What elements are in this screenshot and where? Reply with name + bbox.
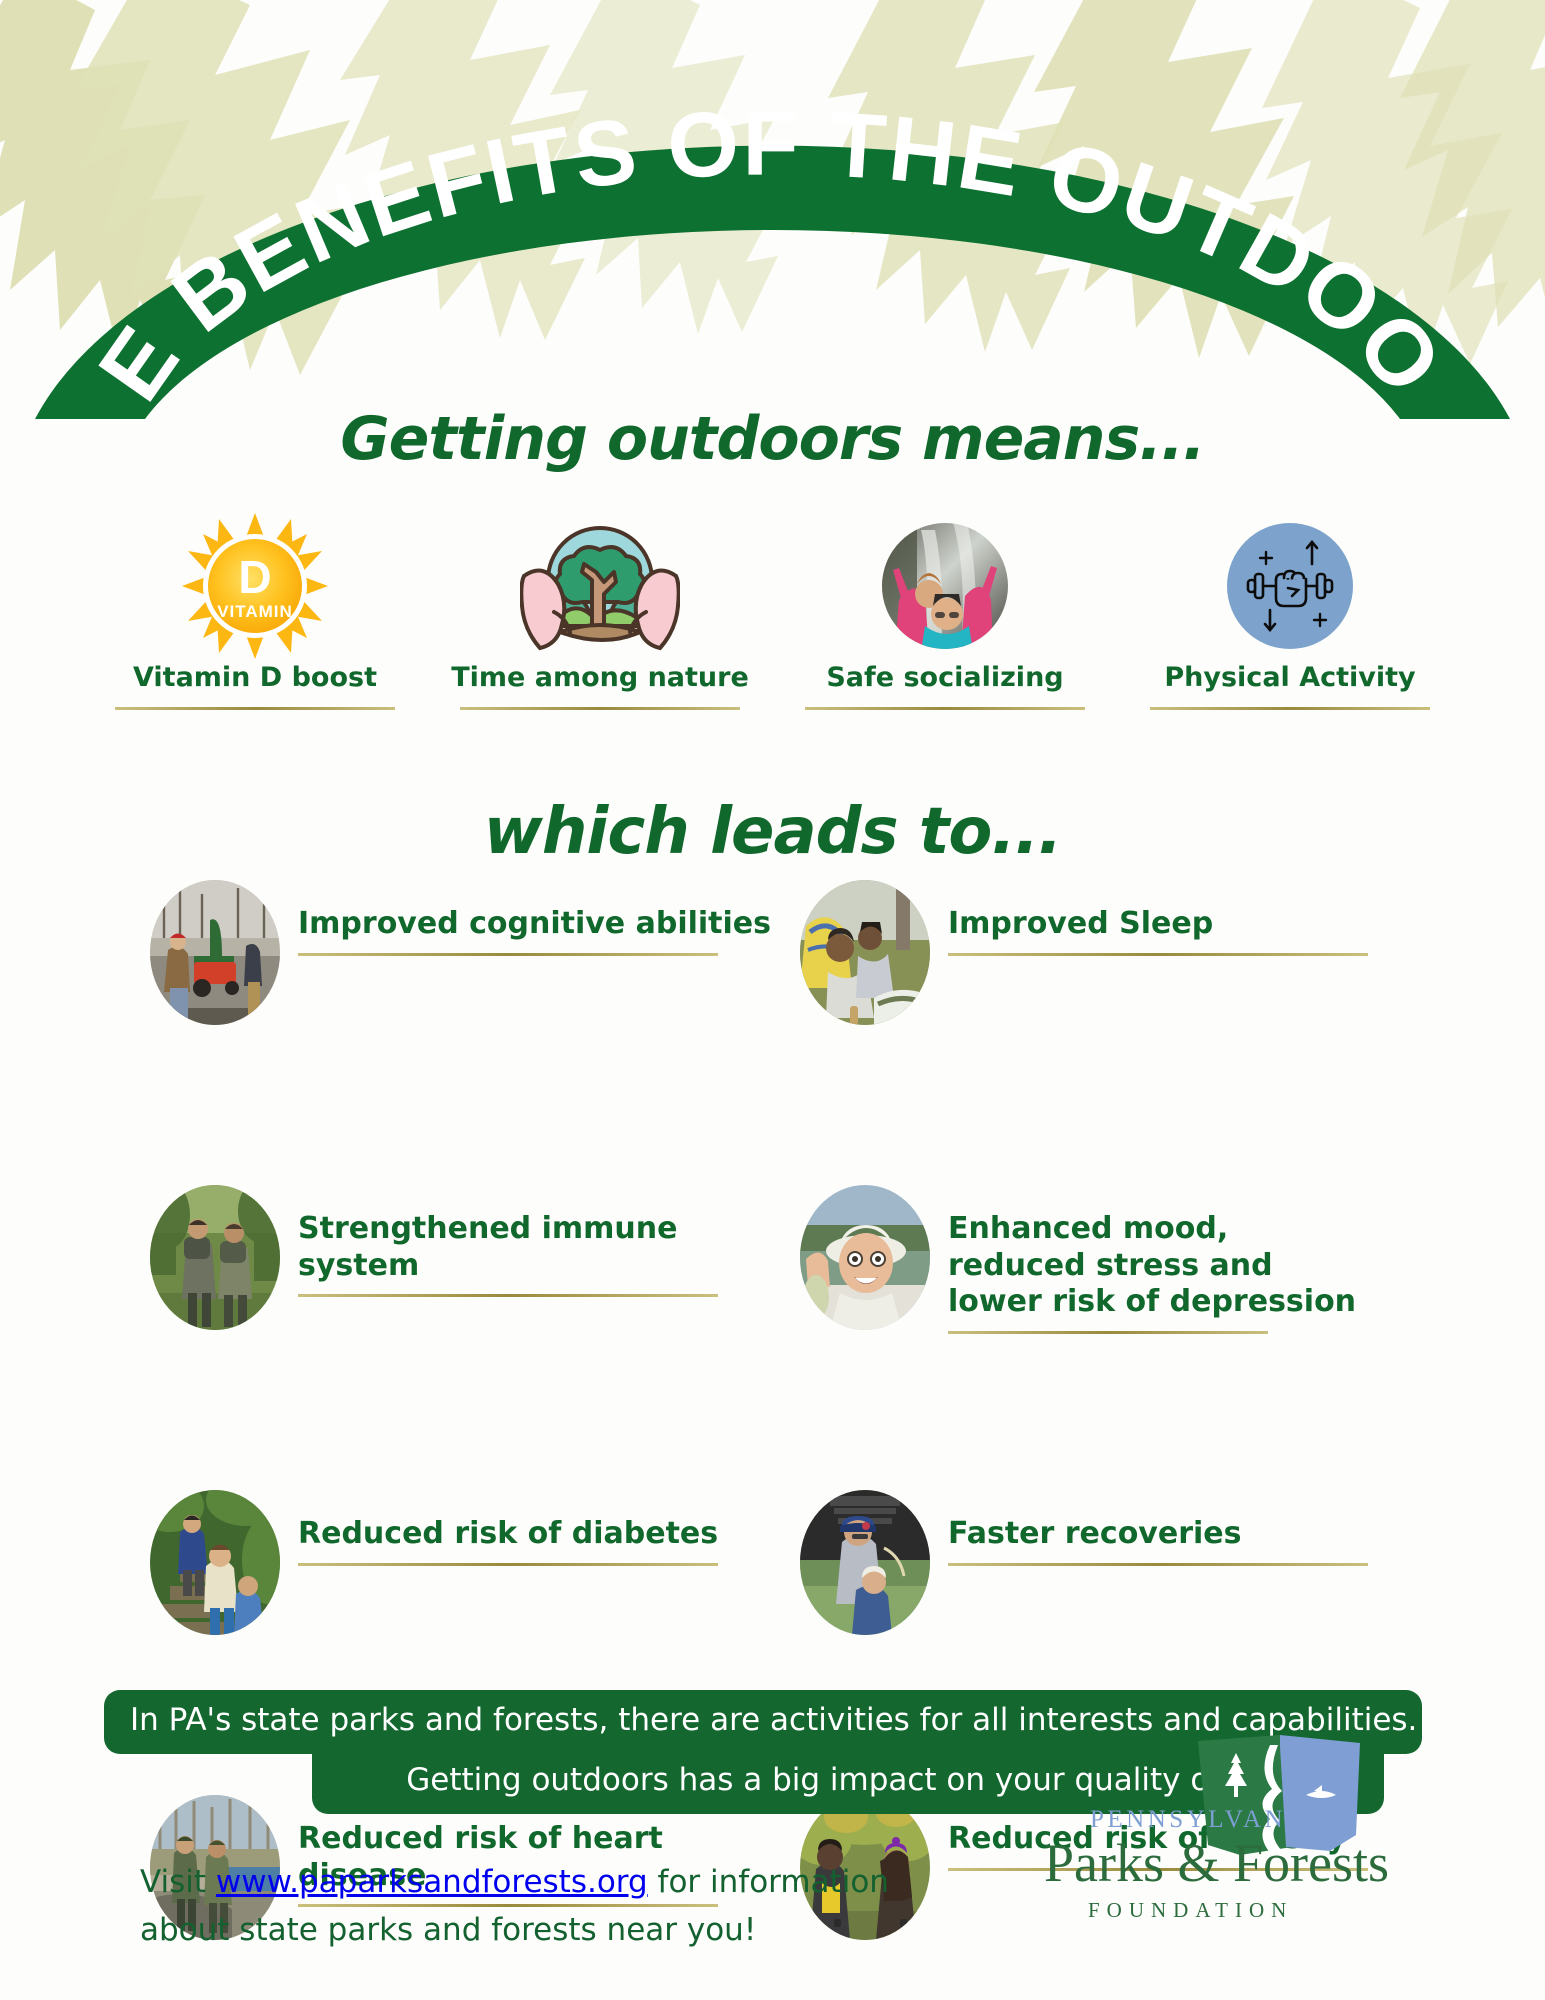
dumbbell-fist-icon xyxy=(1210,522,1370,650)
outcome-item-mood[interactable]: Enhanced mood, reduced stress and lower … xyxy=(800,1185,1450,1340)
outcome-item-immune[interactable]: Strengthened immune system xyxy=(150,1185,800,1340)
hands-holding-nature-icon xyxy=(520,522,680,650)
students-planting-photo xyxy=(800,880,930,1025)
logo-line-pennsylvania: PENNSYLVANIA xyxy=(1090,1806,1320,1833)
outcome-item-diabetes[interactable]: Reduced risk of diabetes xyxy=(150,1490,800,1645)
family-on-forest-steps-photo xyxy=(150,1490,280,1635)
man-with-red-tractor-photo xyxy=(150,880,280,1025)
svg-text:D: D xyxy=(238,551,271,603)
outcome-label: Enhanced mood, reduced stress and lower … xyxy=(948,1211,1368,1321)
gold-divider xyxy=(298,953,718,956)
gold-divider xyxy=(948,1331,1268,1334)
outcome-row: Strengthened immune system xyxy=(150,1185,1450,1340)
outcome-label: Faster recoveries xyxy=(948,1516,1450,1553)
gold-divider xyxy=(298,1563,718,1566)
outcome-label: Improved cognitive abilities xyxy=(298,906,800,943)
gold-divider xyxy=(1150,707,1430,710)
gold-divider xyxy=(948,1563,1368,1566)
vitamin-d-sun-icon: D VITAMIN xyxy=(175,522,335,650)
outcome-label: Improved Sleep xyxy=(948,906,1450,943)
gold-divider xyxy=(115,707,395,710)
benefit-label-safe-socializing: Safe socializing xyxy=(826,662,1063,693)
outcome-label: Reduced risk of diabetes xyxy=(298,1516,800,1553)
outcome-row: Reduced risk of diabetes xyxy=(150,1490,1450,1645)
group-at-waterfall-photo xyxy=(865,522,1025,650)
benefit-cell-vitamin-d[interactable]: D VITAMIN Vitamin D boost xyxy=(95,522,415,710)
benefit-cell-physical-activity[interactable]: Physical Activity xyxy=(1130,522,1450,710)
gold-divider xyxy=(460,707,740,710)
benefit-label-physical-activity: Physical Activity xyxy=(1164,662,1415,693)
outcome-item-recoveries[interactable]: Faster recoveries xyxy=(800,1490,1450,1645)
smiling-angler-photo xyxy=(800,1185,930,1330)
outcome-item-sleep[interactable]: Improved Sleep xyxy=(800,880,1450,1035)
outcome-item-cognitive[interactable]: Improved cognitive abilities xyxy=(150,880,800,1035)
svg-text:VITAMIN: VITAMIN xyxy=(217,602,293,621)
footer-prefix: Visit xyxy=(140,1864,216,1900)
section-heading-getting-outdoors: Getting outdoors means... xyxy=(0,404,1545,474)
benefit-cell-time-among-nature[interactable]: Time among nature xyxy=(440,522,760,710)
poster-title-banner: THE BENEFITS OF THE OUTDOORS xyxy=(0,58,1545,418)
outcome-row: Improved cognitive abilities xyxy=(150,880,1450,1035)
outdoor-benefits-icon-row: D VITAMIN Vitamin D boost Time among xyxy=(95,522,1450,710)
outcome-label: Strengthened immune system xyxy=(298,1211,800,1284)
man-and-boy-fishing-photo xyxy=(800,1490,930,1635)
benefit-label-time-among-nature: Time among nature xyxy=(451,662,749,693)
benefit-label-vitamin-d: Vitamin D boost xyxy=(133,662,377,693)
gold-divider xyxy=(805,707,1085,710)
benefit-cell-safe-socializing[interactable]: Safe socializing xyxy=(785,522,1105,710)
logo-line-foundation: FOUNDATION xyxy=(1088,1898,1293,1922)
gold-divider xyxy=(298,1294,718,1297)
gold-divider xyxy=(948,953,1368,956)
hikers-with-backpacks-photo xyxy=(150,1185,280,1330)
logo-line-parks-forests: Parks & Forests xyxy=(1044,1833,1389,1893)
ppff-logo[interactable]: PENNSYLVANIA Parks & Forests FOUNDATION xyxy=(1030,1735,1430,1965)
footer-visit-text: Visit www.paparksandforests.org for info… xyxy=(140,1858,900,1954)
section-heading-which-leads-to: which leads to... xyxy=(0,795,1545,869)
website-link[interactable]: www.paparksandforests.org xyxy=(216,1864,648,1900)
